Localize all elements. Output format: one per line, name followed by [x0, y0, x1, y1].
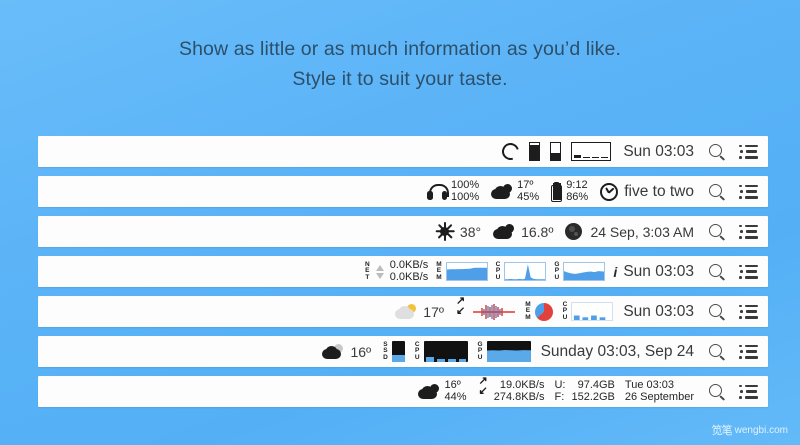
- storage-bar-full-icon[interactable]: [529, 142, 540, 161]
- disk-values[interactable]: 97.4GB 152.2GB: [571, 380, 614, 403]
- mem-usage-graph[interactable]: [446, 262, 488, 281]
- control-center-list-icon[interactable]: [739, 385, 758, 399]
- menu-bar-row-5[interactable]: 17º ↗ ↙ M E M: [38, 296, 768, 327]
- cpu-bar-graph-dark[interactable]: [424, 341, 468, 362]
- net-label-char-3: T: [365, 275, 369, 282]
- watermark-text: wengbi.com: [735, 425, 788, 436]
- mem-label: M E M: [436, 261, 441, 283]
- analog-clock-icon[interactable]: [600, 183, 618, 201]
- bar-graph-box-icon[interactable]: [571, 142, 611, 161]
- disk-used-value: 97.4GB: [571, 380, 614, 392]
- ssd-label: S S D: [383, 341, 388, 363]
- mem-pie-chart[interactable]: [535, 303, 553, 321]
- clock-text[interactable]: Sun 03:03: [623, 303, 694, 321]
- weather-temp: 16º: [444, 380, 466, 392]
- disk-free-value: 152.2GB: [571, 392, 614, 404]
- menu-bar-row-7[interactable]: 16º 44% ↗ ↙ 19.0KB/s 274.8KB/s U: F: 97.…: [38, 376, 768, 407]
- control-center-list-icon[interactable]: [739, 145, 758, 159]
- headline-line-1: Show as little or as much information as…: [179, 38, 621, 60]
- gpu-label-char-3: U: [555, 275, 560, 282]
- net-label: N E T: [365, 261, 370, 283]
- clock-words-text[interactable]: five to two: [624, 183, 694, 201]
- clock-time: Tue 03:03: [625, 380, 694, 392]
- clock-text[interactable]: 24 Sep, 3:03 AM: [590, 224, 694, 240]
- headphones-icon[interactable]: [427, 184, 447, 200]
- watermark: 笕笔 wengbi.com: [712, 422, 788, 438]
- disk-labels: U: F:: [554, 380, 565, 403]
- net-download-speed: 274.8KB/s: [494, 392, 545, 404]
- weather-temp: 17º: [517, 180, 539, 192]
- weather-readout[interactable]: 16º 44%: [444, 380, 466, 403]
- net-download-speed: 0.0KB/s: [390, 272, 429, 284]
- search-icon[interactable]: [708, 143, 725, 160]
- cpu-label-char-3: U: [415, 355, 420, 362]
- menu-bar-row-2[interactable]: 100% 100% 17º 45% 9:12 86% five to two: [38, 176, 768, 207]
- arrow-up-icon: [376, 265, 384, 271]
- mem-label-char-3: M: [436, 275, 441, 282]
- ssd-label-char-3: D: [383, 355, 388, 362]
- page-title: Show as little or as much information as…: [0, 0, 800, 94]
- gpu-usage-graph-dark[interactable]: [487, 341, 531, 362]
- cpu-bar-graph[interactable]: [571, 302, 613, 321]
- search-icon[interactable]: [708, 183, 725, 200]
- battery-percent: 86%: [566, 192, 588, 204]
- net-upload-speed: 0.0KB/s: [390, 260, 429, 272]
- gpu-label-char-3: U: [478, 355, 483, 362]
- moon-phase-ring-icon[interactable]: [499, 140, 522, 163]
- cpu-label-char-3: U: [563, 315, 568, 322]
- weather-cloud-icon[interactable]: [493, 224, 515, 240]
- control-center-list-icon[interactable]: [739, 265, 758, 279]
- headphones-battery-readout[interactable]: 100% 100%: [451, 180, 479, 203]
- disk-free-label: F:: [554, 392, 565, 404]
- clock-text[interactable]: Sunday 03:03, Sep 24: [541, 343, 694, 361]
- cpu-label-char-3: U: [496, 275, 501, 282]
- network-arrows-icon[interactable]: ↗ ↙: [456, 296, 465, 327]
- info-glyph[interactable]: i: [613, 256, 617, 287]
- battery-time: 9:12: [566, 180, 588, 192]
- control-center-list-icon[interactable]: [739, 345, 758, 359]
- search-icon[interactable]: [708, 223, 725, 240]
- weather-cloud-icon[interactable]: [322, 344, 344, 360]
- cpu-temperature-text[interactable]: 38°: [460, 224, 481, 240]
- moon-phase-sphere-icon[interactable]: [565, 223, 582, 240]
- net-speed-readout[interactable]: 0.0KB/s 0.0KB/s: [390, 260, 429, 283]
- network-arrows-icon[interactable]: ↗ ↙: [478, 376, 487, 407]
- weather-temp-text[interactable]: 16.8º: [521, 224, 553, 240]
- storage-bar-half-icon[interactable]: [550, 142, 561, 161]
- arrow-down-left-icon: ↙: [478, 386, 487, 396]
- headline-line-2: Style it to suit your taste.: [0, 64, 800, 94]
- net-speed-readout[interactable]: 19.0KB/s 274.8KB/s: [494, 380, 545, 403]
- menu-bar-row-3[interactable]: 38° 16.8º 24 Sep, 3:03 AM: [38, 216, 768, 247]
- control-center-list-icon[interactable]: [739, 185, 758, 199]
- watermark-logo: 笕笔: [712, 422, 732, 438]
- search-icon[interactable]: [708, 343, 725, 360]
- search-icon[interactable]: [708, 303, 725, 320]
- weather-temp-text[interactable]: 17º: [423, 304, 444, 320]
- headphones-right-value: 100%: [451, 192, 479, 204]
- gpu-label: G P U: [478, 341, 483, 363]
- gpu-usage-graph[interactable]: [563, 262, 605, 281]
- weather-sun-cloud-icon[interactable]: [395, 304, 417, 320]
- cpu-temperature-sun-icon[interactable]: [436, 223, 454, 241]
- cpu-usage-graph[interactable]: [504, 262, 546, 281]
- weather-cloud-icon[interactable]: [491, 184, 513, 200]
- weather-cloud-icon[interactable]: [418, 384, 440, 400]
- mem-label: M E M: [525, 301, 530, 323]
- headphones-left-value: 100%: [451, 180, 479, 192]
- audio-waveform-graph[interactable]: [473, 303, 515, 321]
- clock-readout[interactable]: Tue 03:03 26 September: [625, 380, 694, 403]
- battery-icon[interactable]: [551, 182, 562, 202]
- net-direction-arrows: [376, 256, 384, 287]
- clock-date: 26 September: [625, 392, 694, 404]
- control-center-list-icon[interactable]: [739, 225, 758, 239]
- weather-temp-text[interactable]: 16º: [350, 344, 371, 360]
- ssd-usage-bar[interactable]: [392, 341, 405, 362]
- menu-bar-row-6[interactable]: 16º S S D C P U G P U: [38, 336, 768, 367]
- net-upload-speed: 19.0KB/s: [494, 380, 545, 392]
- control-center-list-icon[interactable]: [739, 305, 758, 319]
- disk-used-label: U:: [554, 380, 565, 392]
- arrow-down-icon: [376, 273, 384, 279]
- menu-bar-row-4[interactable]: N E T 0.0KB/s 0.0KB/s M E M C P U: [38, 256, 768, 287]
- weather-humidity: 44%: [444, 392, 466, 404]
- weather-humidity: 45%: [517, 192, 539, 204]
- mem-label-char-3: M: [525, 315, 530, 322]
- gpu-label: G P U: [554, 261, 559, 283]
- search-icon[interactable]: [708, 383, 725, 400]
- cpu-label: C P U: [415, 341, 420, 363]
- clock-text[interactable]: Sun 03:03: [623, 263, 694, 281]
- menu-bar-row-1[interactable]: Sun 03:03: [38, 136, 768, 167]
- search-icon[interactable]: [708, 263, 725, 280]
- arrow-down-left-icon: ↙: [456, 306, 465, 316]
- clock-text[interactable]: Sun 03:03: [623, 143, 694, 161]
- cpu-label: C P U: [563, 301, 568, 323]
- battery-readout[interactable]: 9:12 86%: [566, 180, 588, 203]
- weather-readout[interactable]: 17º 45%: [517, 180, 539, 203]
- cpu-label: C P U: [496, 261, 501, 283]
- menu-bar-list: Sun 03:03 100% 100% 17º 45% 9:12 86%: [38, 136, 768, 416]
